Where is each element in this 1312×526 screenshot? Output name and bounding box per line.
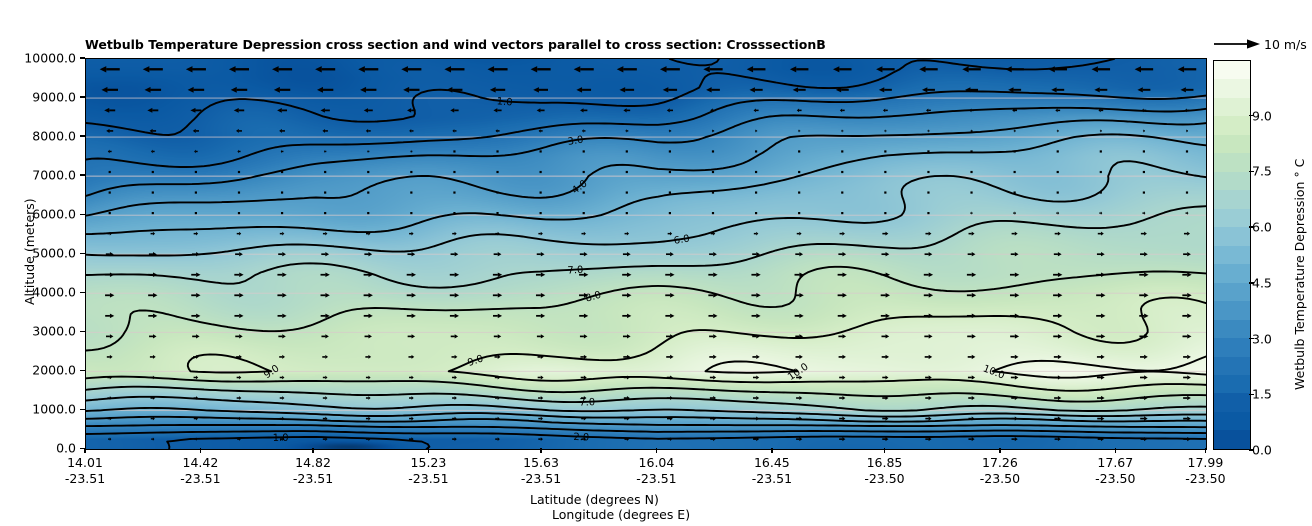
- colorbar-band: [1214, 190, 1250, 208]
- cross-section-plot[interactable]: 1.01.02.03.04.06.07.07.08.09.09.010.010.…: [85, 58, 1207, 450]
- x-axis-lat-tick: 14.01: [65, 455, 105, 471]
- x-axis-tick-label: 14.01-23.51: [65, 455, 105, 487]
- x-axis-lat-tick: 16.04: [636, 455, 676, 471]
- x-axis-tick-label: 16.04-23.51: [636, 455, 676, 487]
- colorbar-band: [1214, 412, 1250, 430]
- x-axis-tick-mark: [540, 448, 541, 453]
- x-axis-lat-tick: 14.42: [180, 455, 220, 471]
- y-axis-tick-label: 4000.0: [32, 285, 76, 300]
- colorbar-tick-label: 1.5: [1252, 387, 1272, 402]
- x-axis-lon-tick: -23.50: [980, 471, 1020, 487]
- colorbar-band: [1214, 227, 1250, 245]
- colorbar-tick-label: 4.5: [1252, 275, 1272, 290]
- colorbar-band: [1214, 338, 1250, 356]
- x-axis-lon-tick: -23.51: [752, 471, 792, 487]
- y-axis-tick-label: 10000.0: [24, 51, 76, 66]
- x-axis-tick-label: 17.67-23.50: [1095, 455, 1135, 487]
- colorbar-band: [1214, 375, 1250, 393]
- colorbar-band: [1214, 209, 1250, 227]
- x-axis-lon-tick: -23.50: [1095, 471, 1135, 487]
- colorbar-band: [1214, 301, 1250, 319]
- colorbar-label: Wetbulb Temperature Depression ° C: [1292, 159, 1307, 390]
- y-axis-tick-mark: [80, 370, 85, 371]
- colorbar-band: [1214, 283, 1250, 301]
- x-axis-lon-tick: -23.51: [636, 471, 676, 487]
- title-line-1: Wetbulb Temperature Depression cross sec…: [85, 37, 1185, 52]
- colorbar-tick-label: 3.0: [1252, 331, 1272, 346]
- colorbar-band: [1214, 320, 1250, 338]
- x-axis-label-latitude: Latitude (degrees N): [530, 492, 659, 507]
- x-axis-lat-tick: 17.26: [980, 455, 1020, 471]
- x-axis-tick-mark: [1205, 448, 1206, 453]
- x-axis-tick-label: 15.63-23.51: [521, 455, 561, 487]
- y-axis-label: Altitude (meters): [22, 199, 37, 306]
- y-axis-tick-label: 8000.0: [32, 129, 76, 144]
- y-axis-tick-mark: [80, 57, 85, 58]
- y-axis-tick-label: 5000.0: [32, 246, 76, 261]
- quiver-key-label: 10 m/s: [1264, 37, 1307, 52]
- y-axis-tick-label: 1000.0: [32, 402, 76, 417]
- colorbar-band: [1214, 393, 1250, 411]
- y-axis-tick-mark: [80, 214, 85, 215]
- x-axis-tick-mark: [884, 448, 885, 453]
- x-axis-tick-mark: [84, 448, 85, 453]
- x-axis-tick-mark: [771, 448, 772, 453]
- colorbar-tick-label: 0.0: [1252, 443, 1272, 458]
- y-axis-tick-mark: [80, 292, 85, 293]
- colorbar-band: [1214, 430, 1250, 448]
- figure-root: Wetbulb Temperature Depression cross sec…: [0, 0, 1312, 526]
- colorbar-band: [1214, 246, 1250, 264]
- x-axis-tick-mark: [312, 448, 313, 453]
- colorbar-band: [1214, 79, 1250, 97]
- y-axis-tick-mark: [80, 96, 85, 97]
- x-axis-lon-tick: -23.50: [1185, 471, 1225, 487]
- colorbar[interactable]: [1213, 60, 1251, 450]
- colorbar-band: [1214, 172, 1250, 190]
- x-axis-lat-tick: 15.23: [408, 455, 448, 471]
- y-axis-tick-label: 9000.0: [32, 90, 76, 105]
- x-axis-tick-mark: [200, 448, 201, 453]
- y-axis-tick-label: 3000.0: [32, 324, 76, 339]
- colorbar-band: [1214, 264, 1250, 282]
- x-axis-lon-tick: -23.51: [180, 471, 220, 487]
- x-axis-lat-tick: 14.82: [293, 455, 333, 471]
- x-axis-lon-tick: -23.51: [65, 471, 105, 487]
- colorbar-band: [1214, 116, 1250, 134]
- x-axis-tick-mark: [1115, 448, 1116, 453]
- y-axis-tick-label: 0.0: [56, 441, 76, 456]
- x-axis-lat-tick: 16.85: [864, 455, 904, 471]
- x-axis-tick-mark: [999, 448, 1000, 453]
- quiver-key-arrow-icon: [1214, 36, 1260, 52]
- y-axis-tick-mark: [80, 331, 85, 332]
- x-axis-tick-label: 14.82-23.51: [293, 455, 333, 487]
- x-axis-lon-tick: -23.51: [293, 471, 333, 487]
- y-axis-tick-mark: [80, 174, 85, 175]
- x-axis-tick-label: 17.26-23.50: [980, 455, 1020, 487]
- x-axis-lon-tick: -23.50: [864, 471, 904, 487]
- x-axis-lon-tick: -23.51: [521, 471, 561, 487]
- x-axis-tick-mark: [656, 448, 657, 453]
- y-axis-tick-label: 6000.0: [32, 207, 76, 222]
- x-axis-lat-tick: 16.45: [752, 455, 792, 471]
- x-axis-tick-mark: [428, 448, 429, 453]
- colorbar-band: [1214, 357, 1250, 375]
- x-axis-label-longitude: Longitude (degrees E): [552, 507, 690, 522]
- x-axis-lon-tick: -23.51: [408, 471, 448, 487]
- y-axis-tick-label: 2000.0: [32, 363, 76, 378]
- x-axis-lat-tick: 15.63: [521, 455, 561, 471]
- x-axis-lat-tick: 17.67: [1095, 455, 1135, 471]
- x-axis-tick-label: 16.85-23.50: [864, 455, 904, 487]
- x-axis-tick-label: 15.23-23.51: [408, 455, 448, 487]
- colorbar-band: [1214, 98, 1250, 116]
- x-axis-tick-label: 14.42-23.51: [180, 455, 220, 487]
- x-axis-lat-tick: 17.99: [1185, 455, 1225, 471]
- x-axis-tick-label: 16.45-23.51: [752, 455, 792, 487]
- y-axis-tick-mark: [80, 409, 85, 410]
- colorbar-band: [1214, 135, 1250, 153]
- colorbar-tick-label: 9.0: [1252, 108, 1272, 123]
- wind-vectors: [86, 59, 1206, 449]
- colorbar-band: [1214, 61, 1250, 79]
- x-axis-tick-label: 17.99-23.50: [1185, 455, 1225, 487]
- y-axis-tick-mark: [80, 135, 85, 136]
- y-axis-tick-mark: [80, 253, 85, 254]
- colorbar-tick-label: 6.0: [1252, 220, 1272, 235]
- colorbar-band: [1214, 153, 1250, 171]
- y-axis-tick-label: 7000.0: [32, 168, 76, 183]
- colorbar-tick-label: 7.5: [1252, 164, 1272, 179]
